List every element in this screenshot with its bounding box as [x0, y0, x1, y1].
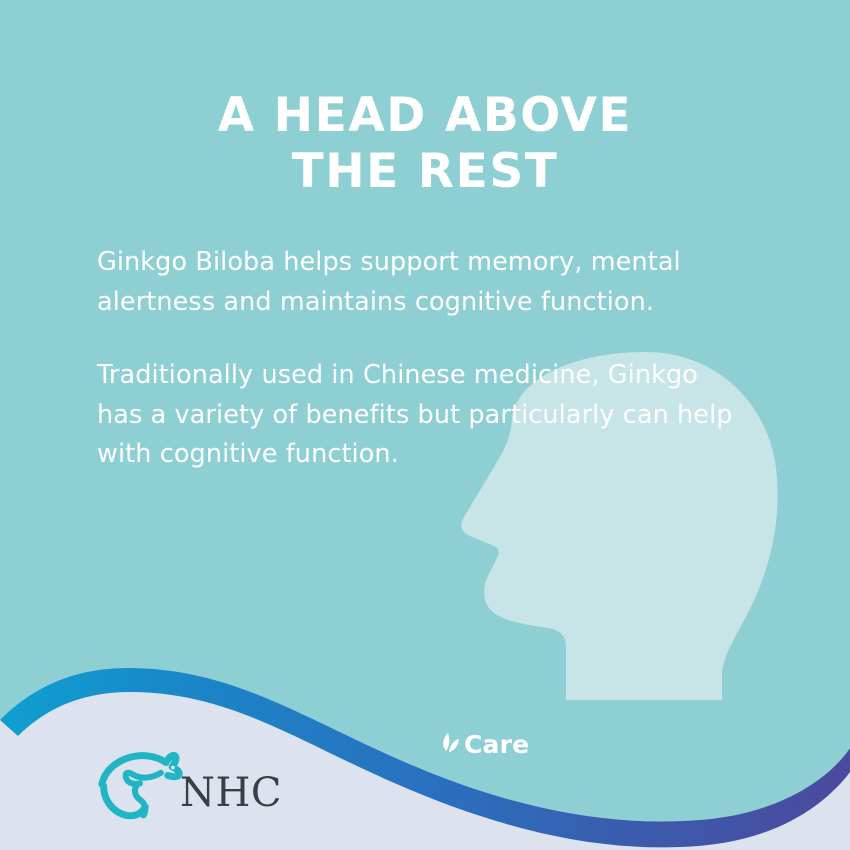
care-lockup: Care [437, 730, 529, 758]
poster-canvas: A Head Above The Rest Ginkgo Biloba help… [0, 0, 850, 850]
care-leaf-icon [437, 730, 463, 758]
nhc-logo: NHC [96, 745, 291, 825]
headline-line-2: The Rest [0, 148, 850, 195]
headline: A Head Above The Rest [0, 92, 850, 204]
headline-line-1: A Head Above [0, 92, 850, 139]
body-paragraph-2: Traditionally used in Chinese medicine, … [97, 356, 742, 475]
kangaroo-icon [96, 746, 184, 824]
nhc-wordmark: NHC [180, 773, 282, 813]
care-label: Care [464, 732, 529, 757]
body-paragraph-1: Ginkgo Biloba helps support memory, ment… [97, 243, 742, 322]
body-copy: Ginkgo Biloba helps support memory, ment… [97, 243, 742, 475]
